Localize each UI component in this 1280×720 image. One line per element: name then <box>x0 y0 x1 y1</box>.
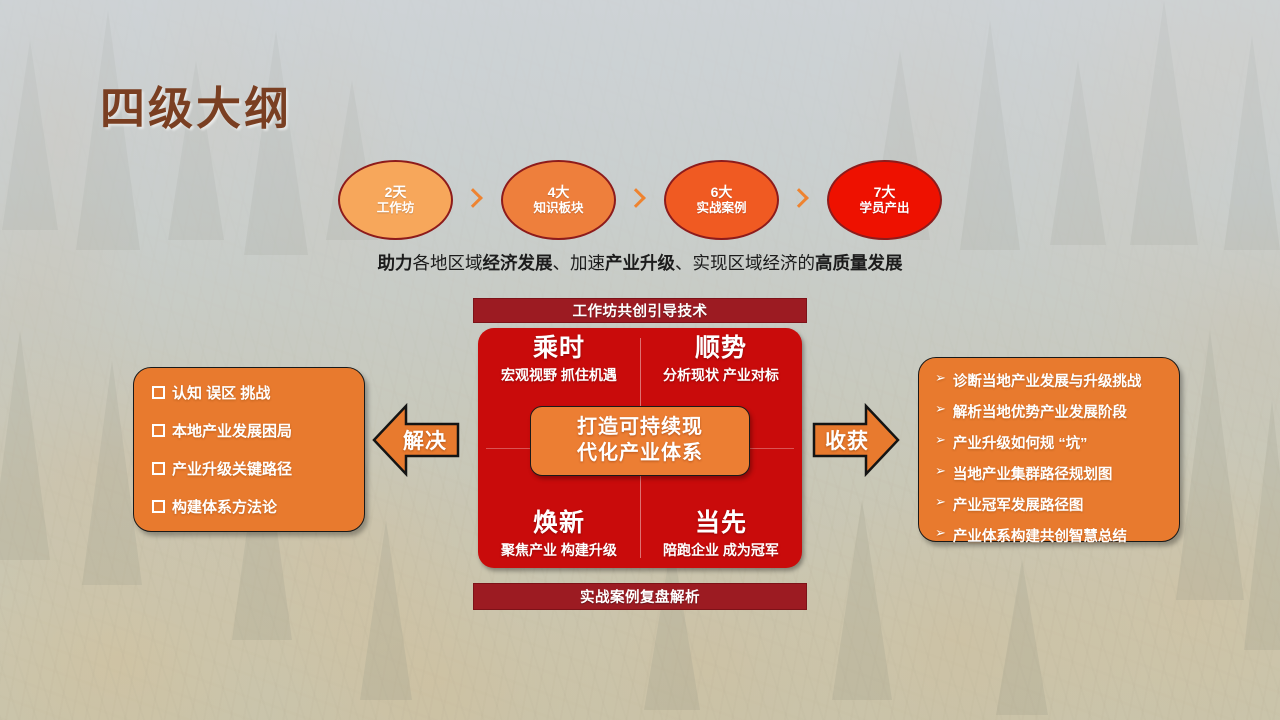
quadrant-1-subtext: 宏观视野 抓住机遇 <box>501 365 617 385</box>
flow-node-2-caption: 知识板块 <box>533 201 583 216</box>
left-panel-item-2: 本地产业发展困局 <box>172 420 292 441</box>
square-bullet-icon <box>152 462 165 475</box>
square-bullet-icon <box>152 386 165 399</box>
core-goal-line-1: 打造可持续现 <box>577 415 703 441</box>
arrow-right-gain: 收获 <box>812 400 900 480</box>
subtitle-seg-3: 经济发展 <box>483 253 553 273</box>
arrow-bullet-icon: ➢ <box>935 526 946 539</box>
subtitle-seg-6: 、实现区域经济的 <box>675 253 815 273</box>
flow-node-2[interactable]: 4大 知识板块 <box>501 160 616 240</box>
chevron-right-icon-2 <box>627 188 645 212</box>
banner-bottom: 实战案例复盘解析 <box>473 583 807 610</box>
core-goal-box[interactable]: 打造可持续现 代化产业体系 <box>530 406 750 476</box>
chevron-right-icon-1 <box>464 188 482 212</box>
list-item[interactable]: ➢ 解析当地优势产业发展阶段 <box>935 401 1171 422</box>
chevron-right-icon-3 <box>790 188 808 212</box>
right-panel-item-4: 当地产业集群路径规划图 <box>953 463 1113 484</box>
arrow-left-icon <box>372 400 460 480</box>
flow-node-4[interactable]: 7大 学员产出 <box>827 160 942 240</box>
list-item[interactable]: ➢ 产业升级如何规 “坑” <box>935 432 1171 453</box>
flow-node-4-number: 7大 <box>874 184 896 201</box>
quadrant-4-subtext: 陪跑企业 成为冠军 <box>663 540 779 560</box>
list-item[interactable]: ➢ 诊断当地产业发展与升级挑战 <box>935 370 1171 391</box>
arrow-bullet-icon: ➢ <box>935 402 946 415</box>
arrow-right-icon <box>812 400 900 480</box>
flow-node-1-number: 2天 <box>385 184 407 201</box>
square-bullet-icon <box>152 500 165 513</box>
quadrant-3-subtext: 聚焦产业 构建升级 <box>501 540 617 560</box>
quadrant-3-heading: 焕新 <box>533 509 585 538</box>
flow-node-1[interactable]: 2天 工作坊 <box>338 160 453 240</box>
subtitle-seg-7: 高质量发展 <box>815 253 903 273</box>
arrow-left-solve: 解决 <box>372 400 460 480</box>
list-item[interactable]: ➢ 当地产业集群路径规划图 <box>935 463 1171 484</box>
list-item[interactable]: 认知 误区 挑战 <box>152 382 354 403</box>
quadrant-4-heading: 当先 <box>695 509 747 538</box>
quadrant-matrix: 乘时 宏观视野 抓住机遇 顺势 分析现状 产业对标 焕新 聚焦产业 构建升级 当… <box>478 328 802 568</box>
list-item[interactable]: 本地产业发展困局 <box>152 420 354 441</box>
right-panel-item-2: 解析当地优势产业发展阶段 <box>953 401 1127 422</box>
arrow-bullet-icon: ➢ <box>935 433 946 446</box>
left-panel-item-4: 构建体系方法论 <box>172 496 277 517</box>
right-panel-item-5: 产业冠军发展路径图 <box>953 494 1084 515</box>
list-item[interactable]: ➢ 产业冠军发展路径图 <box>935 494 1171 515</box>
list-item[interactable]: 构建体系方法论 <box>152 496 354 517</box>
flow-node-1-caption: 工作坊 <box>377 201 415 216</box>
arrow-bullet-icon: ➢ <box>935 464 946 477</box>
subtitle-line: 助力各地区域经济发展、加速产业升级、实现区域经济的高质量发展 <box>0 250 1280 275</box>
flow-node-3-number: 6大 <box>711 184 733 201</box>
flow-node-2-number: 4大 <box>548 184 570 201</box>
subtitle-seg-5: 产业升级 <box>605 253 675 273</box>
quadrant-2-subtext: 分析现状 产业对标 <box>663 365 779 385</box>
process-flow: 2天 工作坊 4大 知识板块 6大 实战案例 7大 学员产出 <box>338 160 958 240</box>
left-panel-problems: 认知 误区 挑战 本地产业发展困局 产业升级关键路径 构建体系方法论 <box>133 367 365 532</box>
subtitle-seg-1: 助力 <box>378 253 413 273</box>
quadrant-1-heading: 乘时 <box>533 334 585 363</box>
subtitle-seg-2: 各地区域 <box>413 253 483 273</box>
list-item[interactable]: 产业升级关键路径 <box>152 458 354 479</box>
arrow-bullet-icon: ➢ <box>935 371 946 384</box>
square-bullet-icon <box>152 424 165 437</box>
left-panel-item-3: 产业升级关键路径 <box>172 458 292 479</box>
right-panel-item-1: 诊断当地产业发展与升级挑战 <box>953 370 1142 391</box>
core-goal-line-2: 代化产业体系 <box>577 441 703 467</box>
list-item[interactable]: ➢ 产业体系构建共创智慧总结 <box>935 525 1171 546</box>
right-panel-outcomes: ➢ 诊断当地产业发展与升级挑战 ➢ 解析当地优势产业发展阶段 ➢ 产业升级如何规… <box>918 357 1180 542</box>
banner-top: 工作坊共创引导技术 <box>473 298 807 323</box>
flow-node-3[interactable]: 6大 实战案例 <box>664 160 779 240</box>
right-panel-item-3: 产业升级如何规 “坑” <box>953 432 1088 453</box>
right-panel-item-6: 产业体系构建共创智慧总结 <box>953 525 1127 546</box>
slide-canvas: 四级大纲 2天 工作坊 4大 知识板块 6大 实战案例 7大 学员产出 助力各地… <box>0 0 1280 720</box>
left-panel-item-1: 认知 误区 挑战 <box>172 382 270 403</box>
flow-node-3-caption: 实战案例 <box>696 201 746 216</box>
subtitle-seg-4: 、加速 <box>553 253 606 273</box>
arrow-bullet-icon: ➢ <box>935 495 946 508</box>
page-title: 四级大纲 <box>100 72 292 137</box>
flow-node-4-caption: 学员产出 <box>859 201 909 216</box>
quadrant-2-heading: 顺势 <box>695 334 747 363</box>
